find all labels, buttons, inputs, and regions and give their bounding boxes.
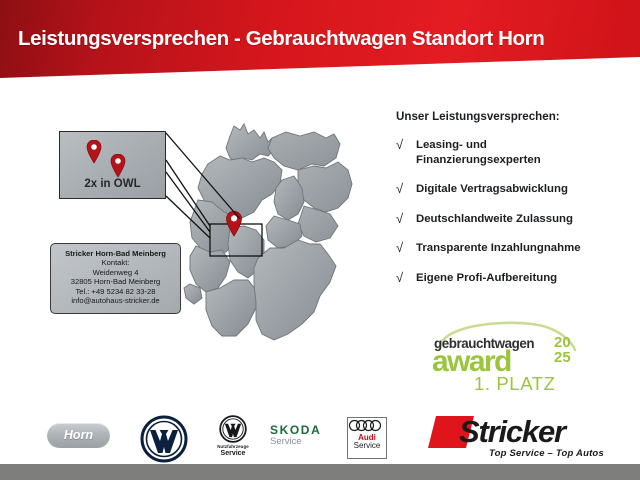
skoda-service-logo: SKODA Service: [270, 423, 321, 447]
award-badge: gebrauchtwagen award 20 25 1. PLATZ: [428, 318, 593, 396]
check-icon: √: [396, 212, 416, 226]
contact-line-email[interactable]: info@autohaus-stricker.de: [51, 296, 180, 305]
audi-service-logo: Audi Service: [347, 417, 387, 459]
page-title: Leistungsversprechen - Gebrauchtwagen St…: [18, 27, 544, 51]
owl-map-pin-2: [110, 154, 126, 178]
promise-label: Eigene Profi-Aufbereitung: [416, 271, 557, 286]
horn-label: Horn: [47, 423, 110, 448]
vw-nfz-line1: Nutzfahrzeuge: [205, 444, 261, 449]
germany-map: [168, 118, 383, 403]
owl-label: 2x in OWL: [60, 178, 165, 190]
owl-map-pin-1: [86, 140, 102, 164]
skoda-name: SKODA: [270, 423, 321, 437]
contact-line-name: Stricker Horn-Bad Meinberg: [51, 249, 180, 258]
owl-callout-box: 2x in OWL: [59, 131, 166, 199]
stricker-logo: Stricker Top Service – Top Autos: [428, 410, 618, 465]
vw-logo-icon: [140, 415, 188, 463]
promises-heading: Unser Leistungsversprechen:: [396, 110, 560, 123]
page-header: Leistungsversprechen - Gebrauchtwagen St…: [0, 0, 640, 78]
audi-service-label: Service: [348, 441, 386, 450]
award-year: 20 25: [554, 336, 571, 365]
promise-item: √ Deutschlandweite Zulassung: [396, 212, 628, 227]
promise-label: Digitale Vertragsabwicklung: [416, 182, 568, 197]
contact-line-phone: Tel.: +49 5234 82 33-28: [51, 287, 180, 296]
promise-label: Leasing- und Finanzierungsexperten: [416, 138, 536, 167]
promise-item: √ Digitale Vertragsabwicklung: [396, 182, 628, 197]
award-year-bottom: 25: [554, 351, 571, 366]
vw-logo-icon: [219, 415, 247, 443]
promise-item: √ Leasing- und Finanzierungsexperten: [396, 138, 628, 167]
check-icon: √: [396, 138, 416, 152]
award-platz: 1. PLATZ: [474, 373, 556, 395]
contact-info-box: Stricker Horn-Bad Meinberg Kontakt: Weid…: [50, 243, 181, 314]
stricker-name: Stricker: [459, 414, 565, 450]
vw-nutzfahrzeuge-logo: Nutzfahrzeuge Service: [205, 415, 261, 457]
contact-line-city: 32805 Horn-Bad Meinberg: [51, 277, 180, 286]
contact-line-kontakt: Kontakt:: [51, 258, 180, 267]
promise-item: √ Eigene Profi-Aufbereitung: [396, 271, 628, 286]
horn-badge: Horn: [47, 423, 110, 448]
check-icon: √: [396, 241, 416, 255]
check-icon: √: [396, 271, 416, 285]
skoda-service-label: Service: [270, 436, 321, 447]
promise-label: Transparente Inzahlungnahme: [416, 241, 581, 256]
promise-label: Deutschlandweite Zulassung: [416, 212, 573, 227]
stricker-tagline: Top Service – Top Autos: [489, 448, 604, 459]
vw-nfz-line2: Service: [205, 450, 261, 457]
check-icon: √: [396, 182, 416, 196]
promise-item: √ Transparente Inzahlungnahme: [396, 241, 628, 256]
contact-line-street: Weidenweg 4: [51, 268, 180, 277]
promises-list: √ Leasing- und Finanzierungsexperten √ D…: [396, 138, 628, 300]
footer-bar: [0, 464, 640, 480]
audi-rings-icon: [348, 419, 386, 432]
